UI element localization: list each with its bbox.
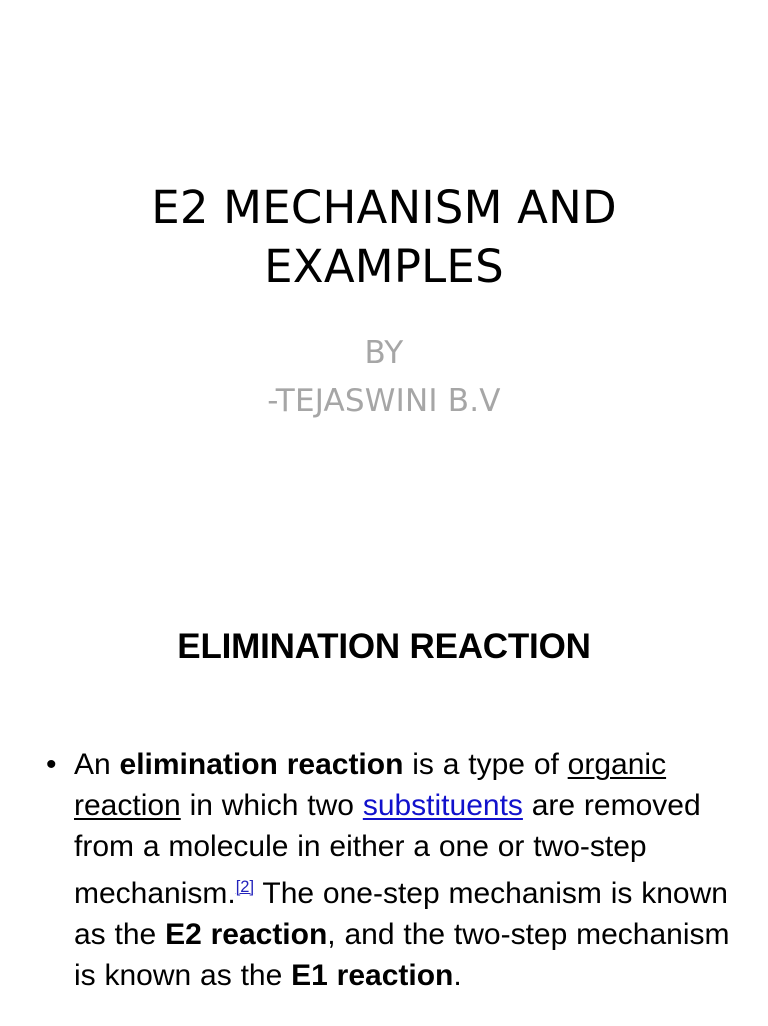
body-run-plain-1: An <box>74 748 120 781</box>
page-title: E2 MECHANISM AND EXAMPLES <box>0 178 768 296</box>
body-link-substituents[interactable]: substituents <box>363 789 523 822</box>
author-prefix: BY <box>0 329 768 377</box>
body-run-plain-2: is a type of <box>403 748 567 781</box>
list-item: •An elimination reaction is a type of or… <box>40 744 732 996</box>
body-block: •An elimination reaction is a type of or… <box>40 714 732 1026</box>
subtitle-block: BY -TEJASWINI B.V <box>0 329 768 425</box>
bullet-icon: • <box>46 744 57 785</box>
body-run-plain-3: in which two <box>181 789 363 822</box>
slide-page: E2 MECHANISM AND EXAMPLES BY -TEJASWINI … <box>0 0 768 1024</box>
body-run-bold-elimination-reaction: elimination reaction <box>120 748 404 781</box>
body-run-bold-e1-reaction: E1 reaction <box>291 959 453 992</box>
citation-link-2[interactable]: [2] <box>236 878 254 896</box>
section-heading: ELIMINATION REACTION <box>0 625 768 669</box>
body-run-bold-e2-reaction: E2 reaction <box>165 918 327 951</box>
body-run-plain-7: . <box>453 959 461 992</box>
title-block: E2 MECHANISM AND EXAMPLES <box>0 178 768 296</box>
author-name: -TEJASWINI B.V <box>0 377 768 425</box>
